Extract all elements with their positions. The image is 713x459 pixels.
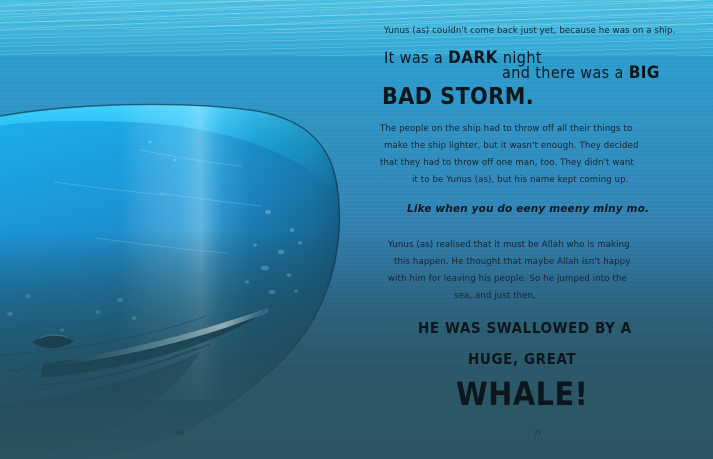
paragraph1-line-3: that they had to throw off one man, too.… [380, 158, 634, 168]
headline-word-dark: DARK [448, 48, 498, 68]
finale-line-2: HUGE, GREAT [468, 350, 576, 368]
paragraph2-line-2: this happen. He thought that maybe Allah… [394, 257, 630, 267]
headline-part-a: It was a [384, 48, 448, 67]
story-text-column: Yunus (as) couldn't come back just yet, … [372, 0, 713, 459]
headline-line-2: and there was a BIG [502, 63, 660, 83]
page-number-right: 77 [534, 430, 542, 437]
intro-line: Yunus (as) couldn't come back just yet, … [384, 26, 675, 36]
paragraph1-line-1: The people on the ship had to throw off … [380, 124, 632, 134]
paragraph2-line-1: Yunus (as) realised that it must be Alla… [388, 240, 630, 250]
paragraph2-line-4: sea, and just then, [454, 291, 536, 301]
finale-line-3: WHALE! [456, 375, 588, 413]
page-number-left: 76 [176, 430, 184, 437]
aside-line: Like when you do eeny meeny miny mo. [407, 203, 649, 215]
paragraph1-line-4: it to be Yunus (as), but his name kept c… [412, 175, 629, 185]
paragraph1-line-2: make the ship lighter, but it wasn't eno… [384, 141, 639, 151]
headline-line-3: BAD STORM. [382, 84, 534, 110]
headline-part-d: and there was a [502, 63, 629, 82]
paragraph2-line-3: with him for leaving his people. So he j… [388, 274, 627, 284]
book-spread: Yunus (as) couldn't come back just yet, … [0, 0, 713, 459]
finale-line-1: HE WAS SWALLOWED BY A [418, 319, 632, 337]
headline-word-big: BIG [629, 63, 660, 83]
